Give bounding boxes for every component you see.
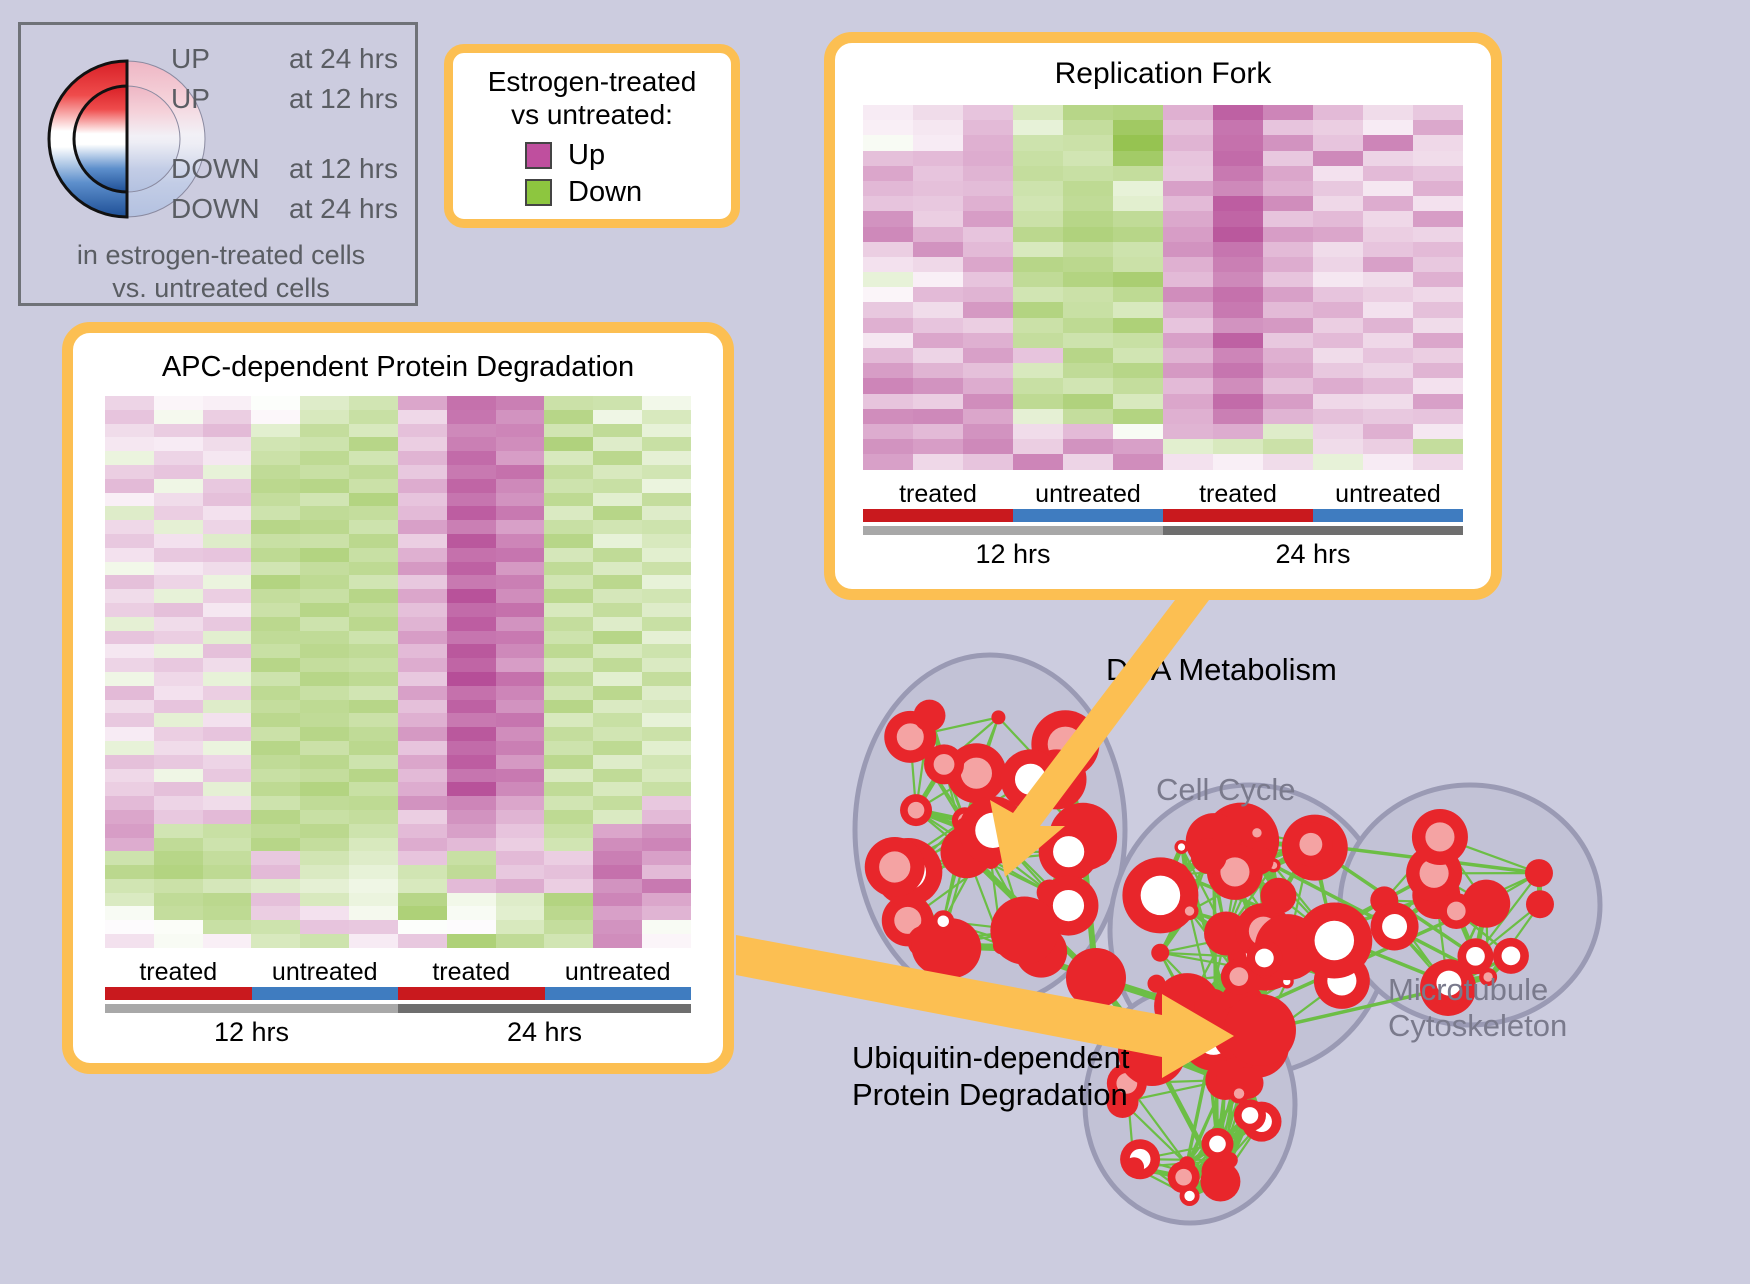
key-item-label: Up [568,139,605,172]
heatmap-cell [1063,287,1113,302]
heatmap-cell [105,506,154,520]
heatmap-cell [349,727,398,741]
heatmap-cell [251,672,300,686]
heatmap-cell [300,520,349,534]
heatmap-cell [1363,409,1413,424]
network-node[interactable] [1147,975,1165,993]
heatmap-cell [251,589,300,603]
network-node[interactable] [865,837,925,897]
heatmap-cell [544,879,593,893]
timepoint-labels: 12 hrs24 hrs [105,1017,691,1048]
heatmap-cell [1013,135,1063,150]
heatmap-cell [1163,120,1213,135]
heatmap-cell [913,378,963,393]
heatmap-cell [913,363,963,378]
heatmap-cell [300,893,349,907]
heatmap-cell [349,879,398,893]
heatmap-cell [398,700,447,714]
heatmap-cell [1013,302,1063,317]
heatmap-cell [251,782,300,796]
heatmap-cell [1113,439,1163,454]
heatmap-cell [398,810,447,824]
heatmap-cell [349,672,398,686]
heatmap-cell [593,410,642,424]
heatmap-cell [349,851,398,865]
node-outer-ring [991,710,1005,724]
network-node[interactable] [1296,903,1372,979]
heatmap-cell [251,548,300,562]
legend-row-up-24: UP at 24 hrs [171,43,421,83]
panel-title: Replication Fork [835,57,1491,91]
heatmap-cell [642,838,691,852]
heatmap-cell [251,893,300,907]
heatmap-cell [154,672,203,686]
heatmap-cell [963,302,1013,317]
heatmap-cell [1363,363,1413,378]
network-node[interactable] [1289,822,1333,866]
heatmap-cell [447,575,496,589]
heatmap-cell [913,211,963,226]
heatmap-cell [593,796,642,810]
heatmap-cell [398,479,447,493]
heatmap-cell [154,410,203,424]
network-node[interactable] [1248,824,1266,842]
heatmap-cell [642,865,691,879]
network-node[interactable] [1260,878,1296,914]
heatmap-cell [203,686,252,700]
node-outer-ring [1260,878,1296,914]
network-node[interactable] [1371,903,1419,951]
heatmap-cell [1413,439,1463,454]
heatmap-cell [447,520,496,534]
heatmap-cell [203,644,252,658]
heatmap-cell [447,782,496,796]
node-outer-ring [1222,1152,1238,1168]
heatmap-cell [398,644,447,658]
heatmap-cell [1063,424,1113,439]
heatmap-cell [203,493,252,507]
heatmap-cell [251,534,300,548]
heatmap-cell [1163,135,1213,150]
heatmap-cell [1113,318,1163,333]
heatmap-cell [447,920,496,934]
heatmap-cell [203,727,252,741]
key-items: Up Down [453,137,731,211]
heatmap-cell [1013,196,1063,211]
heatmap-cell [496,920,545,934]
heatmap-cell [1313,166,1363,181]
heatmap-cell [1163,227,1213,242]
node-inner-core [1382,914,1407,939]
heatmap-cell [398,575,447,589]
heatmap-cell [1113,227,1163,242]
heatmap-cell [496,893,545,907]
network-node[interactable] [959,796,1027,864]
heatmap-cell [496,700,545,714]
down-color-swatch [525,179,552,206]
heatmap-cell [496,575,545,589]
heatmap-cell [1363,333,1413,348]
node-outer-ring [1526,890,1554,918]
heatmap-cell [105,796,154,810]
heatmap-cell [154,769,203,783]
heatmap-cell [1063,454,1113,469]
concentric-ring-legend: UP at 24 hrs UP at 12 hrs DOWN at 12 hrs… [18,22,418,306]
heatmap-cell [1063,272,1113,287]
heatmap-cell [1363,424,1413,439]
heatmap-cell [349,741,398,755]
heatmap-cell [1063,257,1113,272]
heatmap-cell [447,658,496,672]
network-node[interactable] [1200,1161,1240,1201]
heatmap-cell [1413,348,1463,363]
heatmap-cell [863,424,913,439]
heatmap-cell [251,493,300,507]
heatmap-cell [105,769,154,783]
heatmap-cell [300,879,349,893]
heatmap-cell [1313,424,1363,439]
network-node[interactable] [1122,857,1198,933]
heatmap-cell [300,906,349,920]
heatmap-cell [154,713,203,727]
network-node[interactable] [991,710,1005,724]
heatmap-cell [963,272,1013,287]
heatmap-cell [963,135,1013,150]
heatmap-cell [203,424,252,438]
heatmap-cell [251,506,300,520]
heatmap-cell [105,851,154,865]
heatmap-cell [447,686,496,700]
heatmap-cell [398,396,447,410]
heatmap-cell [398,851,447,865]
heatmap-cell [1313,242,1363,257]
condition-bar [545,987,692,1000]
network-node[interactable] [1246,940,1282,976]
heatmap-cell [203,713,252,727]
network-node[interactable] [1234,1099,1266,1131]
key-title-line2: vs untreated: [453,98,731,131]
heatmap-cell [1263,272,1313,287]
heatmap-cell [154,810,203,824]
heatmap-cell [544,603,593,617]
heatmap-cell [1213,439,1263,454]
heatmap-cell [251,741,300,755]
heatmap-cell [251,479,300,493]
heatmap-cell [398,782,447,796]
heatmap-cell [1213,166,1263,181]
heatmap-cell [1113,105,1163,120]
heatmap-cell [300,920,349,934]
network-node[interactable] [913,700,945,732]
heatmap-cell [1013,394,1063,409]
heatmap-cell [863,378,913,393]
heatmap-cell [642,920,691,934]
heatmap-cell [496,410,545,424]
heatmap-cell [1163,318,1213,333]
heatmap-cell [593,644,642,658]
heatmap-cell [544,686,593,700]
heatmap-cell [1163,333,1213,348]
heatmap-cell [1113,378,1163,393]
legend-value: at 12 hrs [289,153,398,185]
heatmap-cell [1013,166,1063,181]
heatmap-cell [300,672,349,686]
heatmap-cell [863,211,913,226]
network-node[interactable] [990,897,1058,965]
heatmap-cell [1113,302,1163,317]
heatmap-cell [154,506,203,520]
heatmap-cell [154,520,203,534]
network-node[interactable] [1493,938,1529,974]
node-inner-core [1015,764,1046,795]
heatmap-cell [1163,287,1213,302]
heatmap-cell [642,713,691,727]
heatmap-cell [963,287,1013,302]
condition-label: treated [105,958,252,987]
heatmap-cell [251,644,300,658]
heatmap-cell [203,506,252,520]
heatmap-cell [251,603,300,617]
network-node[interactable] [924,744,964,784]
legend-value: at 24 hrs [289,43,398,75]
heatmap-cell [1163,424,1213,439]
heatmap-cell [398,893,447,907]
heatmap-cell [105,589,154,603]
heatmap-cell [1163,409,1213,424]
heatmap-cell [863,333,913,348]
heatmap-cell [154,396,203,410]
heatmap-cell [154,796,203,810]
panel-apc-dependent-protein-degradation: APC-dependent Protein Degradation treate… [62,322,734,1074]
heatmap-cell [1013,120,1063,135]
heatmap-cell [1363,439,1413,454]
heatmap-cell [105,686,154,700]
heatmap-cell [154,824,203,838]
heatmap-cell [1263,242,1313,257]
heatmap-cell [1163,105,1213,120]
network-node[interactable] [1186,1016,1206,1036]
heatmap-cell [496,838,545,852]
network-node[interactable] [900,794,932,826]
network-node[interactable] [1001,749,1061,809]
heatmap-cell [1213,287,1263,302]
network-node[interactable] [1039,822,1099,882]
heatmap-cell [251,810,300,824]
heatmap-cell [349,824,398,838]
heatmap-cell [1013,333,1063,348]
heatmap-cell [1363,272,1413,287]
heatmap-cell [544,893,593,907]
heatmap-cell [1013,242,1063,257]
heatmap-cell [1063,211,1113,226]
heatmap-cell [1213,409,1263,424]
heatmap-cell [1213,196,1263,211]
heatmap-cell [913,272,963,287]
heatmap-cell [496,672,545,686]
heatmap-cell [105,437,154,451]
heatmap-cell [251,769,300,783]
heatmap-cell [154,451,203,465]
heatmap-cell [1063,166,1113,181]
heatmap-cell [496,424,545,438]
network-node[interactable] [1181,902,1199,920]
network-node[interactable] [1066,948,1126,1008]
heatmap-cell [251,520,300,534]
heatmap-cell [349,437,398,451]
heatmap-cell [447,410,496,424]
heatmap-cell [251,824,300,838]
heatmap-cell [642,755,691,769]
legend-footer-line2: vs. untreated cells [21,272,421,305]
heatmap-cell [349,410,398,424]
network-node[interactable] [1412,809,1468,865]
heatmap-cell [203,700,252,714]
heatmap-cell [544,824,593,838]
heatmap-cell [1013,348,1063,363]
heatmap-cell [300,424,349,438]
heatmap-cell [154,479,203,493]
heatmap-cell [154,658,203,672]
heatmap-cell [1313,439,1363,454]
heatmap-cell [1163,302,1213,317]
network-node[interactable] [1526,890,1554,918]
heatmap-cell [913,394,963,409]
network-node[interactable] [1174,840,1188,854]
heatmap-cell [154,934,203,948]
heatmap-cell [1313,105,1363,120]
heatmap-cell [447,589,496,603]
network-node[interactable] [1438,893,1474,929]
heatmap-cell [963,105,1013,120]
heatmap-cell [349,782,398,796]
heatmap-cell [1313,257,1363,272]
network-node[interactable] [1525,859,1553,887]
heatmap-cell [593,713,642,727]
heatmap-cell [496,865,545,879]
heatmap-cell [1313,272,1363,287]
node-inner-core [1252,828,1261,837]
network-node[interactable] [1180,1186,1200,1206]
heatmap-cell [105,548,154,562]
key-item-label: Down [568,176,642,209]
heatmap-cell [349,451,398,465]
heatmap-cell [642,396,691,410]
heatmap-cell [1013,227,1063,242]
heatmap-cell [447,644,496,658]
heatmap-cell [398,838,447,852]
timepoint-bar [1163,526,1463,535]
heatmap-cell [1063,348,1113,363]
network-node[interactable] [932,910,954,932]
node-inner-core [1466,947,1485,966]
heatmap-cell [398,534,447,548]
node-inner-core [1234,1088,1244,1098]
heatmap-cell [447,465,496,479]
heatmap-cell [1163,272,1213,287]
network-node[interactable] [1229,1084,1249,1104]
heatmap-cell [544,906,593,920]
heatmap-cell [154,617,203,631]
heatmap-cell [105,741,154,755]
heatmap-cell [593,658,642,672]
heatmap-cell [1413,409,1463,424]
heatmap-cell [593,575,642,589]
heatmap-cell [496,769,545,783]
heatmap-cell [1213,318,1263,333]
heatmap-cell [963,151,1013,166]
node-inner-core [1053,890,1084,921]
heatmap-cell [447,838,496,852]
timepoint-color-bars [863,526,1463,535]
heatmap-cell [447,796,496,810]
cluster-label-ubiquitin-dependent-protein-degradation: Ubiquitin-dependent Protein Degradation [852,1040,1130,1113]
heatmap-cell [544,672,593,686]
heatmap-cell [251,437,300,451]
heatmap-cell [154,741,203,755]
heatmap-cell [642,644,691,658]
heatmap-cell [642,796,691,810]
node-inner-core [1141,876,1181,916]
network-node[interactable] [1222,1152,1238,1168]
heatmap-cell [300,410,349,424]
node-outer-ring [1147,975,1165,993]
heatmap-cell [642,631,691,645]
heatmap-cell [398,658,447,672]
legend-key: UP [171,83,289,115]
heatmap-cell [105,410,154,424]
heatmap-cell [349,686,398,700]
heatmap-cell [593,851,642,865]
heatmap-cell [105,617,154,631]
heatmap-cell [642,562,691,576]
heatmap-cell [1163,378,1213,393]
legend-spacer [171,123,421,153]
network-node[interactable] [1124,1157,1144,1177]
heatmap-wrapper: treateduntreatedtreateduntreated 12 hrs2… [105,396,691,1048]
heatmap-cell [1213,105,1263,120]
heatmap-cell [1413,333,1463,348]
heatmap-cell [1263,409,1313,424]
network-node[interactable] [1151,944,1169,962]
heatmap-cell [398,865,447,879]
network-node[interactable] [1224,994,1296,1066]
heatmap-cell [1413,135,1463,150]
heatmap-cell [593,589,642,603]
heatmap-cell [349,603,398,617]
key-item-up: Up [525,137,731,174]
heatmap-cell [642,824,691,838]
heatmap-cell [544,451,593,465]
heatmap-cell [544,755,593,769]
heatmap-cell [642,548,691,562]
heatmap-cell [398,410,447,424]
heatmap-cell [496,534,545,548]
node-inner-core [975,813,1010,848]
heatmap-cell [1013,105,1063,120]
heatmap-cell [496,879,545,893]
heatmap-cell [496,603,545,617]
network-node[interactable] [1191,838,1227,874]
heatmap-cell [642,617,691,631]
heatmap-cell [203,851,252,865]
heatmap-cell [963,409,1013,424]
heatmap-wrapper: treateduntreatedtreateduntreated 12 hrs2… [863,105,1463,570]
heatmap-cell [203,479,252,493]
heatmap-cell [642,810,691,824]
heatmap-cell [1263,439,1313,454]
heatmap-cell [300,713,349,727]
heatmap-cell [105,934,154,948]
